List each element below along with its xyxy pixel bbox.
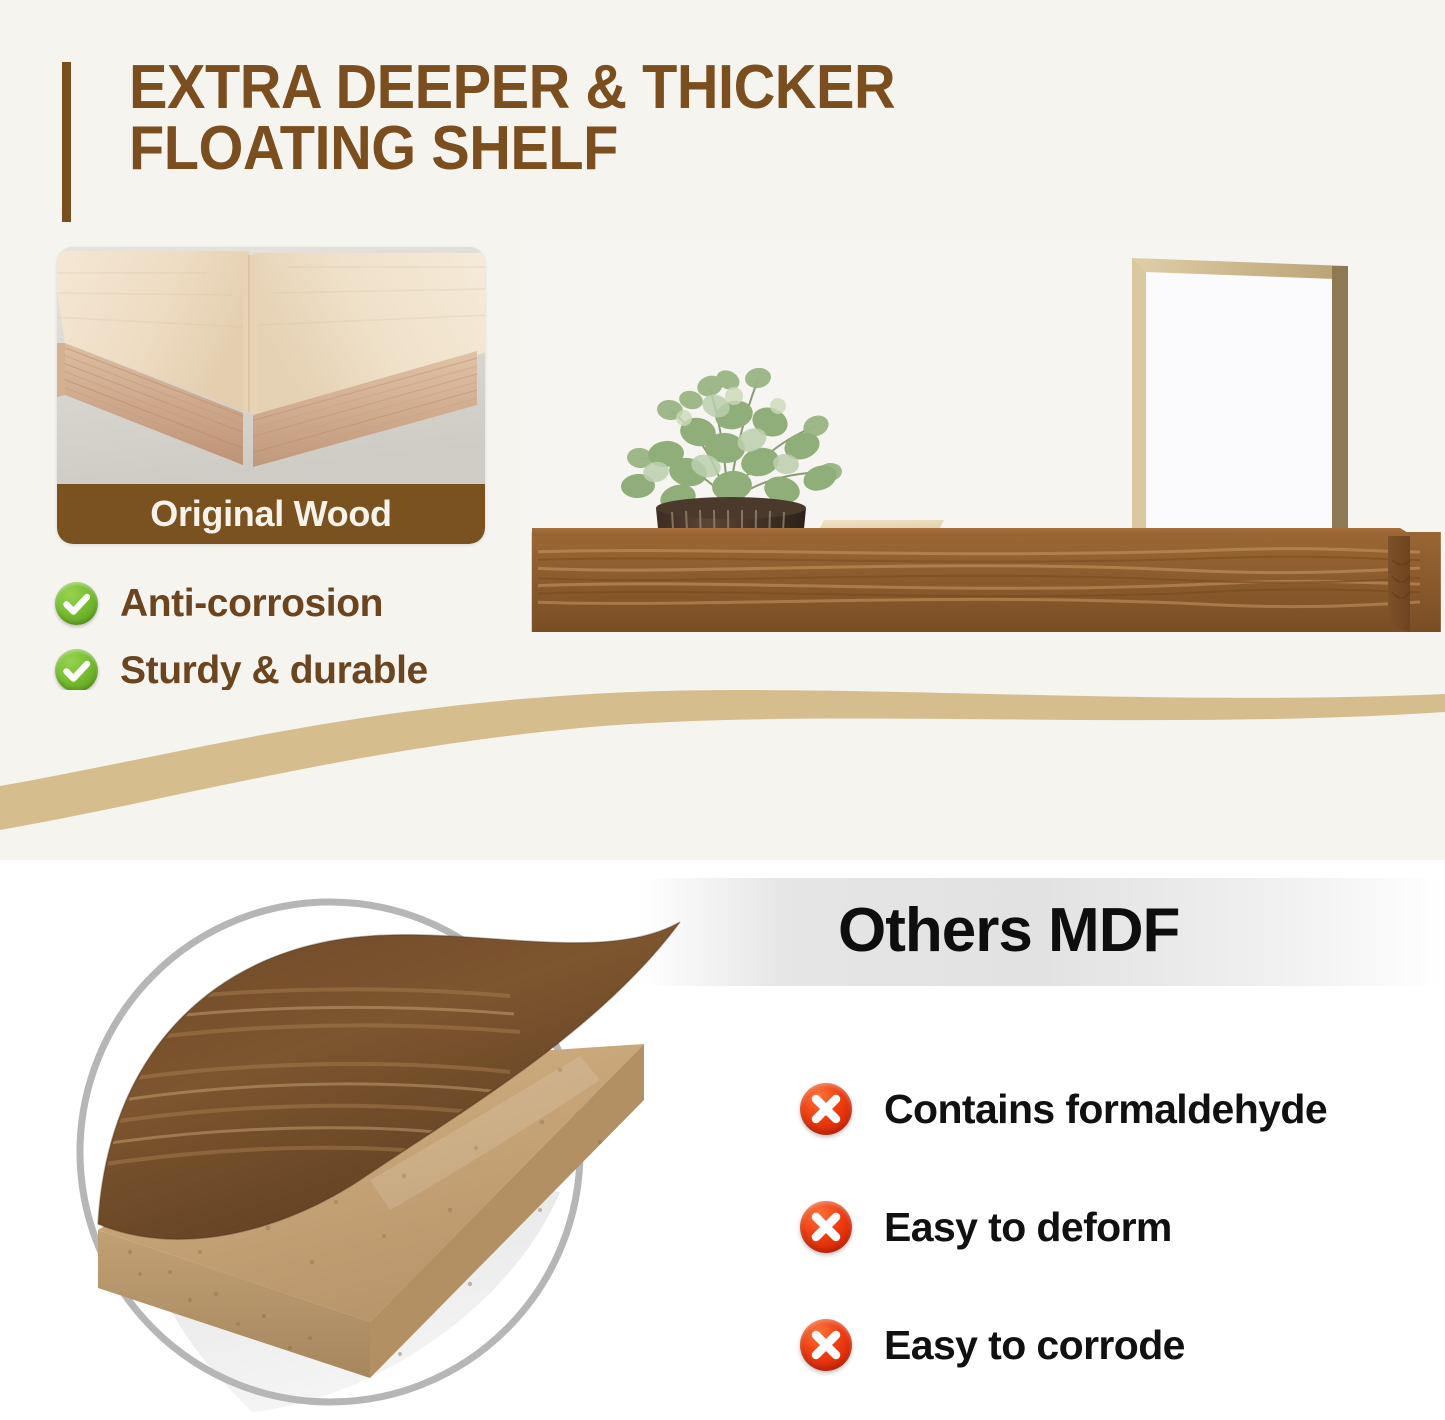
list-item: Anti-corrosion <box>55 570 470 637</box>
list-item: Easy to deform <box>800 1168 1327 1286</box>
page-title: EXTRA DEEPER & THICKER FLOATING SHELF <box>129 58 895 180</box>
red-x-icon <box>800 1083 852 1135</box>
con-label: Easy to deform <box>884 1204 1172 1251</box>
list-item: Contains formaldehyde <box>800 1050 1327 1168</box>
red-x-icon <box>800 1319 852 1371</box>
green-check-icon <box>55 649 98 692</box>
picture-frame <box>1132 258 1348 558</box>
con-label: Contains formaldehyde <box>884 1086 1327 1133</box>
original-wood-caption-bar: Original Wood <box>57 484 485 544</box>
original-wood-card: Original Wood <box>57 247 485 544</box>
con-label: Easy to corrode <box>884 1322 1185 1369</box>
cons-list: Contains formaldehyde Easy to deform Eas… <box>800 1050 1327 1404</box>
shelf-scene-illustration <box>520 240 1445 640</box>
infographic-root: EXTRA DEEPER & THICKER FLOATING SHELF <box>0 0 1445 1420</box>
original-wood-caption-label: Original Wood <box>150 493 391 535</box>
original-wood-photo <box>57 247 485 484</box>
wave-divider <box>0 690 1445 860</box>
list-item: Easy to corrode <box>800 1286 1327 1404</box>
bottom-section: Others MDF <box>0 860 1445 1420</box>
headline-accent-bar <box>62 62 71 222</box>
comparison-title: Others MDF <box>838 895 1179 966</box>
green-check-icon <box>55 582 98 625</box>
pro-label: Sturdy & durable <box>120 649 428 693</box>
floating-shelf <box>530 528 1441 632</box>
top-section: EXTRA DEEPER & THICKER FLOATING SHELF <box>0 0 1445 860</box>
red-x-icon <box>800 1201 852 1253</box>
mdf-board-illustration <box>40 880 720 1420</box>
mdf-illustration <box>40 880 720 1420</box>
wood-boards-illustration <box>57 247 485 484</box>
product-photo <box>520 240 1445 640</box>
headline-block: EXTRA DEEPER & THICKER FLOATING SHELF <box>62 58 953 222</box>
pro-label: Anti-corrosion <box>120 582 383 626</box>
